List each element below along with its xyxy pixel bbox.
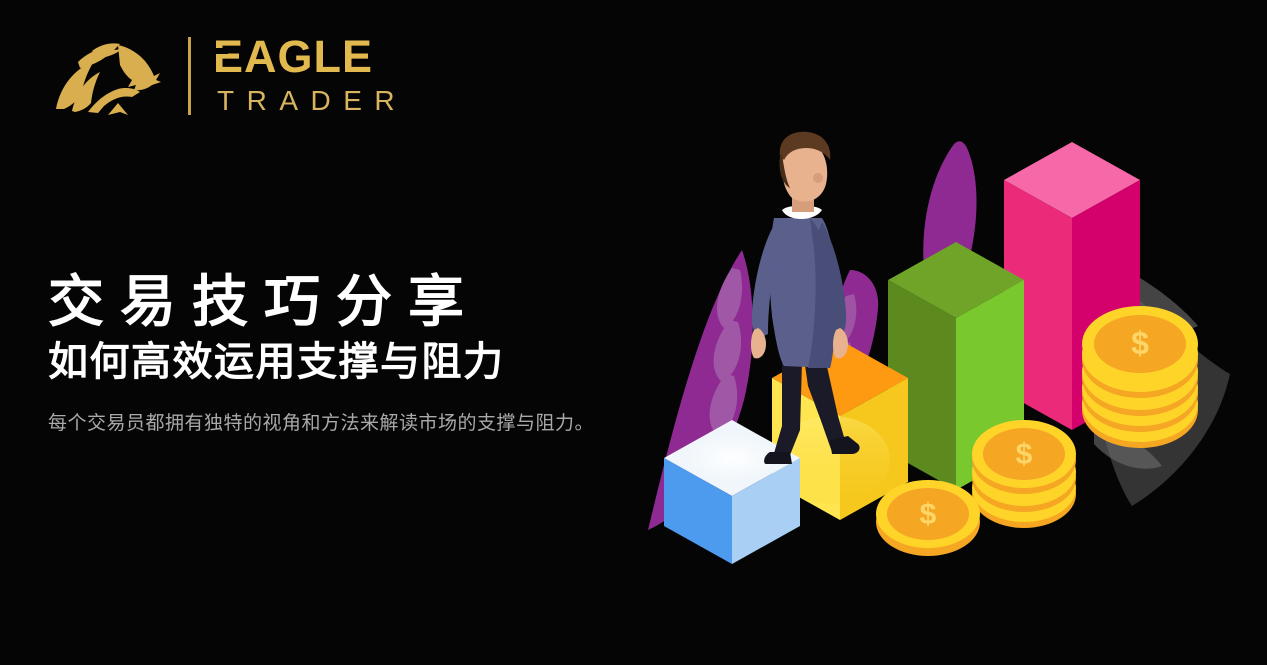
logo-divider	[188, 37, 191, 115]
banner-root: EAGLE TRADER 交易技巧分享 如何高效运用支撑与阻力 每个交易员都拥有…	[0, 0, 1267, 665]
brand-logo[interactable]: EAGLE TRADER	[48, 28, 407, 124]
hero-illustration: $ $ $	[632, 130, 1252, 570]
svg-text:$: $	[920, 498, 937, 531]
page-subtitle: 如何高效运用支撑与阻力	[48, 340, 688, 385]
coin-stack-large: $	[1082, 306, 1198, 448]
page-description: 每个交易员都拥有独特的视角和方法来解读市场的支撑与阻力。	[48, 411, 688, 438]
svg-text:$: $	[1131, 325, 1149, 361]
svg-text:$: $	[1016, 438, 1033, 471]
coin-stack-medium: $	[972, 420, 1076, 528]
headline-block: 交易技巧分享 如何高效运用支撑与阻力 每个交易员都拥有独特的视角和方法来解读市场…	[48, 272, 688, 438]
eagle-head-icon	[48, 33, 170, 119]
coin-single: $	[876, 480, 980, 556]
brand-wordmark: EAGLE TRADER	[213, 35, 407, 116]
brand-name-primary: EAGLE	[213, 35, 407, 79]
page-title: 交易技巧分享	[48, 272, 688, 332]
brand-name-secondary: TRADER	[213, 85, 407, 117]
